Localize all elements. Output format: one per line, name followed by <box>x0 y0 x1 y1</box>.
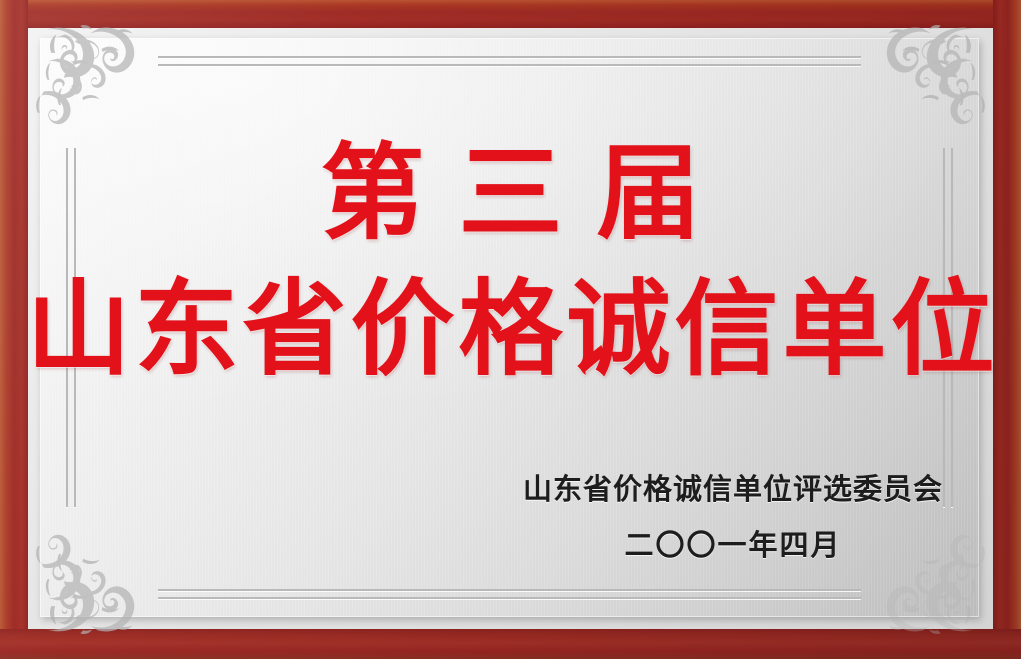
award-title-line-1-text: 第三届 <box>320 131 734 254</box>
rule-top-outer <box>158 56 861 58</box>
issue-date: 二〇〇一年四月 <box>523 522 943 564</box>
rule-bottom-outer <box>158 589 861 591</box>
award-title-line-2: 山东省价格诚信单位 <box>0 272 1021 386</box>
issuer-organization: 山东省价格诚信单位评选委员会 <box>523 466 943 508</box>
award-title-line-1: 第三届 <box>0 136 1021 250</box>
award-title-line-2-text: 山东省价格诚信单位 <box>26 267 998 390</box>
signature-block: 山东省价格诚信单位评选委员会 二〇〇一年四月 <box>523 466 943 564</box>
rule-bottom-inner <box>158 597 861 599</box>
award-plaque: 第三届 山东省价格诚信单位 山东省价格诚信单位评选委员会 二〇〇一年四月 <box>0 0 1021 659</box>
rule-top-inner <box>158 64 861 66</box>
